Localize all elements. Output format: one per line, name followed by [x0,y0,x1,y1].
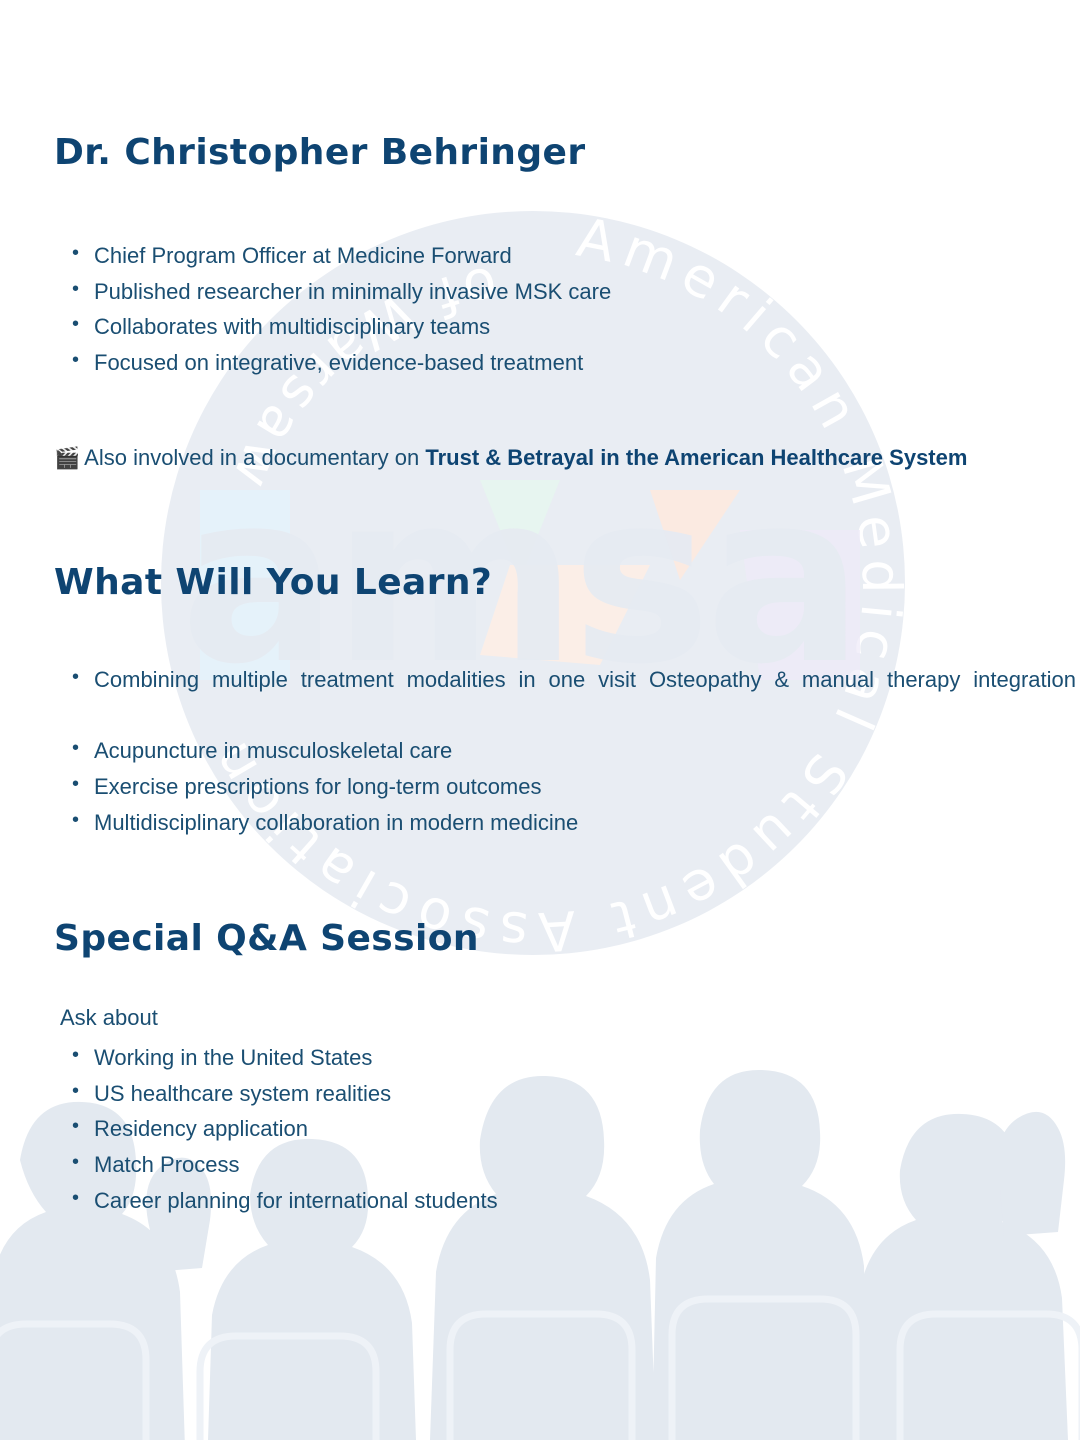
list-item: Multidisciplinary collaboration in moder… [66,805,1076,841]
poster-page: American Medical Student Association of … [0,0,1080,1440]
list-item: Chief Program Officer at Medicine Forwar… [66,238,886,274]
list-item: Combining multiple treatment modalities … [66,662,1076,733]
list-item: Exercise prescriptions for long-term out… [66,769,1076,805]
speaker-bullet-list: Chief Program Officer at Medicine Forwar… [66,238,886,381]
ask-about-label: Ask about [60,1005,158,1031]
list-item: Published researcher in minimally invasi… [66,274,886,310]
qa-section-title: Special Q&A Session [54,918,479,959]
learn-section-title: What Will You Learn? [54,562,492,603]
learn-bullet-list: Combining multiple treatment modalities … [66,662,1076,840]
list-item: Acupuncture in musculoskeletal care [66,733,1076,769]
documentary-lead-text: Also involved in a documentary on [84,445,425,470]
list-item: US healthcare system realities [66,1076,866,1112]
list-item: Match Process [66,1147,866,1183]
qa-bullet-list: Working in the United States US healthca… [66,1040,866,1218]
clapperboard-icon: 🎬 [54,447,80,470]
list-item: Career planning for international studen… [66,1183,866,1219]
list-item: Working in the United States [66,1040,866,1076]
documentary-note: 🎬Also involved in a documentary on Trust… [54,440,1034,476]
documentary-title: Trust & Betrayal in the American Healthc… [425,445,967,470]
list-item: Residency application [66,1111,866,1147]
speaker-title: Dr. Christopher Behringer [54,132,585,173]
list-item: Collaborates with multidisciplinary team… [66,309,886,345]
list-item: Focused on integrative, evidence-based t… [66,345,886,381]
